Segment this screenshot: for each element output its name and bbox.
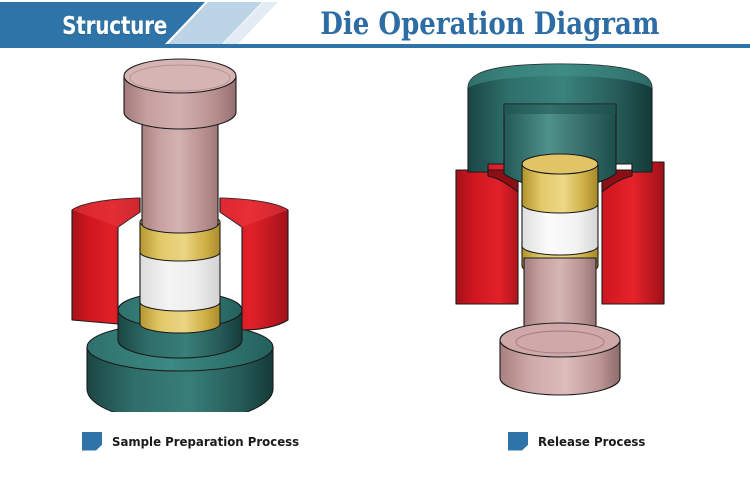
- caption-label: Sample Preparation Process: [112, 434, 299, 449]
- bullet-square-icon: [82, 432, 102, 451]
- plunger-flange: [500, 323, 620, 395]
- header-banner: Structure Die Operation Diagram: [0, 0, 750, 50]
- diagram-release-process: [400, 52, 720, 412]
- upper-gold-ring: [522, 154, 598, 213]
- diagram-stage: [0, 52, 750, 422]
- banner-bottom-rule: [0, 44, 750, 48]
- diagram-sample-preparation: [40, 52, 360, 412]
- plunger-head: [124, 59, 236, 129]
- banner-background-shape: [0, 0, 750, 50]
- caption-release-process: Release Process: [508, 430, 652, 452]
- slide-canvas: Structure Die Operation Diagram: [0, 0, 750, 483]
- caption-sample-preparation: Sample Preparation Process: [82, 430, 311, 452]
- caption-label: Release Process: [538, 434, 645, 449]
- bullet-square-icon: [508, 432, 528, 451]
